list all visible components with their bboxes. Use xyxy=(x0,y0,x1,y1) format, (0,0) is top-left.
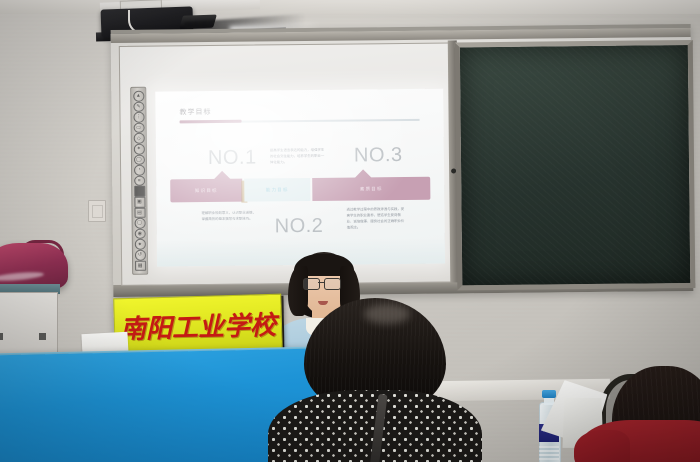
star-icon[interactable]: ✶ xyxy=(133,144,144,155)
handbag-highlight xyxy=(0,271,44,283)
green-chalkboard xyxy=(455,40,696,290)
undo-icon[interactable]: ↺ xyxy=(134,250,145,261)
banner-text: 南阳工业学校 xyxy=(119,304,276,345)
menu-grid-icon[interactable]: ▦ xyxy=(135,260,146,271)
pen-icon[interactable]: ✎ xyxy=(133,101,144,112)
clock-icon[interactable]: ◔ xyxy=(134,165,145,176)
eyeglasses-bridge xyxy=(318,282,324,283)
board-assembly: ▲ ✎ ⋮ ▭ ◇ ✶ ◯ ◔ ≡ ▣ ▤ ▢ ◉ ✷ ↺ ▦ 教学目标 xyxy=(111,24,694,297)
frame-icon[interactable]: ▢ xyxy=(134,218,145,229)
grid-icon[interactable] xyxy=(134,186,145,197)
slide-number-three: NO.3 xyxy=(354,144,403,168)
cursor-icon[interactable]: ▲ xyxy=(133,91,144,102)
eraser-icon[interactable]: ▭ xyxy=(133,122,144,133)
projected-slide: 教学目标 NO.1 NO.3 NO.2 提高学生语言表达的能力，增强学生的社会交… xyxy=(155,89,445,267)
slide-ribbon-1-label: 知识目标 xyxy=(170,179,242,203)
slide-text-bottom-right: 通过教学过程中的思政渗透与实践，提高学生的职业素养，塑造学生爱岗敬业、诚信做事、… xyxy=(346,207,406,231)
zoom-icon[interactable]: ◉ xyxy=(134,228,145,239)
slide-number-two: NO.2 xyxy=(275,215,324,239)
cabinet-handle-left xyxy=(0,333,3,340)
slide-number-one: NO.1 xyxy=(208,147,257,171)
slide-ribbon-3: 素质目标 xyxy=(312,177,430,201)
audience-member-red xyxy=(596,372,700,462)
layers-icon[interactable]: ≡ xyxy=(134,175,145,186)
camera-icon[interactable]: ▤ xyxy=(134,207,145,218)
shapes-icon[interactable]: ◇ xyxy=(133,133,144,144)
audience-member-polka-dot xyxy=(282,298,468,462)
bottle-cap xyxy=(542,390,556,398)
eyeglasses-left-lens xyxy=(303,278,320,290)
slide-ribbon-3-label: 素质目标 xyxy=(312,177,430,201)
eyeglasses-right-lens xyxy=(324,278,341,290)
dots-icon[interactable]: ⋮ xyxy=(133,112,144,123)
cabinet-handle-right xyxy=(39,333,46,340)
wall-socket-plate xyxy=(88,200,106,222)
settings-icon[interactable]: ✷ xyxy=(134,239,145,250)
whiteboard-side-toolbar[interactable]: ▲ ✎ ⋮ ▭ ◇ ✶ ◯ ◔ ≡ ▣ ▤ ▢ ◉ ✷ ↺ ▦ xyxy=(130,87,148,275)
audience-right-arm xyxy=(574,430,630,462)
slide-rule-accent xyxy=(180,120,242,124)
chalkboard-texture xyxy=(460,45,690,285)
slide-ribbon-1: 知识目标 xyxy=(170,179,242,203)
magenta-handbag xyxy=(0,243,68,289)
interactive-whiteboard[interactable]: ▲ ✎ ⋮ ▭ ◇ ✶ ◯ ◔ ≡ ▣ ▤ ▢ ◉ ✷ ↺ ▦ 教学目标 xyxy=(119,42,453,285)
window-icon[interactable]: ▣ xyxy=(134,197,145,208)
slide-title: 教学目标 xyxy=(179,107,211,117)
slide-text-bottom-left: 理解职业规划意义，认识职业道德，掌握简历的基本撰写与求职技巧。 xyxy=(202,211,258,223)
classroom-presentation-photo: ▲ ✎ ⋮ ▭ ◇ ✶ ◯ ◔ ≡ ▣ ▤ ▢ ◉ ✷ ↺ ▦ 教学目标 xyxy=(0,0,700,462)
slide-ribbon-2-label: 能力目标 xyxy=(244,178,310,202)
hair-sheen xyxy=(364,304,410,324)
slide-text-top-center: 提高学生语言表达的能力，增强学生的社会交往能力，培养学生的职业一体化能力。 xyxy=(270,148,326,166)
bottle-ridges xyxy=(539,446,559,460)
circle-icon[interactable]: ◯ xyxy=(133,154,144,165)
slide-ribbon-2: 能力目标 xyxy=(244,178,310,202)
